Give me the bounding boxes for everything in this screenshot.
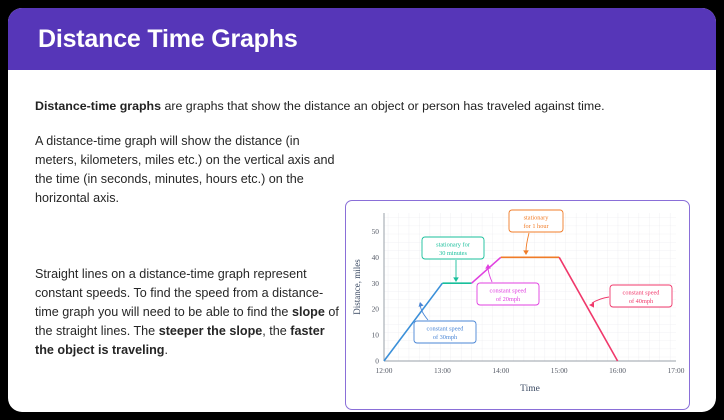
ann-40mph-line1: constant speed: [623, 290, 661, 297]
x-tick-1700: 17:00: [668, 366, 685, 375]
x-tick-1500: 15:00: [551, 366, 568, 375]
paragraph-slope: Straight lines on a distance-time graph …: [35, 265, 345, 361]
y-tick-0: 0: [375, 357, 379, 366]
x-tick-1600: 16:00: [609, 366, 626, 375]
ann-40mph-line2: of 40mph: [629, 298, 654, 305]
para3-bold-slope: slope: [292, 305, 325, 319]
ann-stationary-30min-line2: 30 minutes: [439, 250, 467, 257]
y-tick-30: 30: [372, 279, 380, 288]
y-axis-label: Distance, miles: [352, 259, 362, 315]
paragraph-vertical-horizontal-axis: A distance-time graph will show the dist…: [35, 132, 345, 209]
x-tick-1400: 14:00: [492, 366, 509, 375]
x-axis-ticks: 12:00 13:00 14:00 15:00 16:00 17:00: [376, 366, 685, 375]
ann-20mph-line2: of 20mph: [496, 296, 521, 303]
ann-stationary-1hour-line2: for 1 hour: [523, 223, 549, 230]
ann-30mph-line1: constant speed: [427, 326, 465, 333]
para3-part1: Straight lines on a distance-time graph …: [35, 267, 323, 319]
slide-card: Distance Time Graphs Distance-time graph…: [8, 8, 716, 412]
x-tick-1300: 13:00: [434, 366, 451, 375]
intro-paragraph: Distance-time graphs are graphs that sho…: [35, 98, 695, 115]
intro-bold-term: Distance-time graphs: [35, 99, 161, 113]
x-axis-label: Time: [520, 384, 540, 394]
left-text-column: A distance-time graph will show the dist…: [35, 132, 345, 360]
intro-rest: are graphs that show the distance an obj…: [161, 99, 605, 113]
ann-30mph-line2: of 30mph: [433, 334, 458, 341]
para3-bold-steeper: steeper the slope: [159, 324, 263, 338]
ann-stationary-1hour-line1: stationary: [524, 215, 550, 222]
page-title: Distance Time Graphs: [38, 25, 298, 54]
y-tick-10: 10: [372, 331, 380, 340]
para3-part3: , the: [262, 324, 290, 338]
slide-header: Distance Time Graphs: [8, 8, 716, 70]
distance-time-chart: 0 10 20 30 40 50 12:00 13:00 14:00 15:00…: [346, 201, 687, 407]
x-tick-1200: 12:00: [376, 366, 393, 375]
y-axis-ticks: 0 10 20 30 40 50: [372, 227, 380, 366]
ann-20mph-line1: constant speed: [490, 288, 528, 295]
y-tick-50: 50: [372, 227, 380, 236]
y-tick-20: 20: [372, 305, 380, 314]
para3-part4: .: [164, 343, 168, 357]
distance-time-chart-card: 0 10 20 30 40 50 12:00 13:00 14:00 15:00…: [345, 200, 690, 410]
ann-stationary-30min-line1: stationary for: [436, 242, 471, 249]
y-tick-40: 40: [372, 253, 380, 262]
